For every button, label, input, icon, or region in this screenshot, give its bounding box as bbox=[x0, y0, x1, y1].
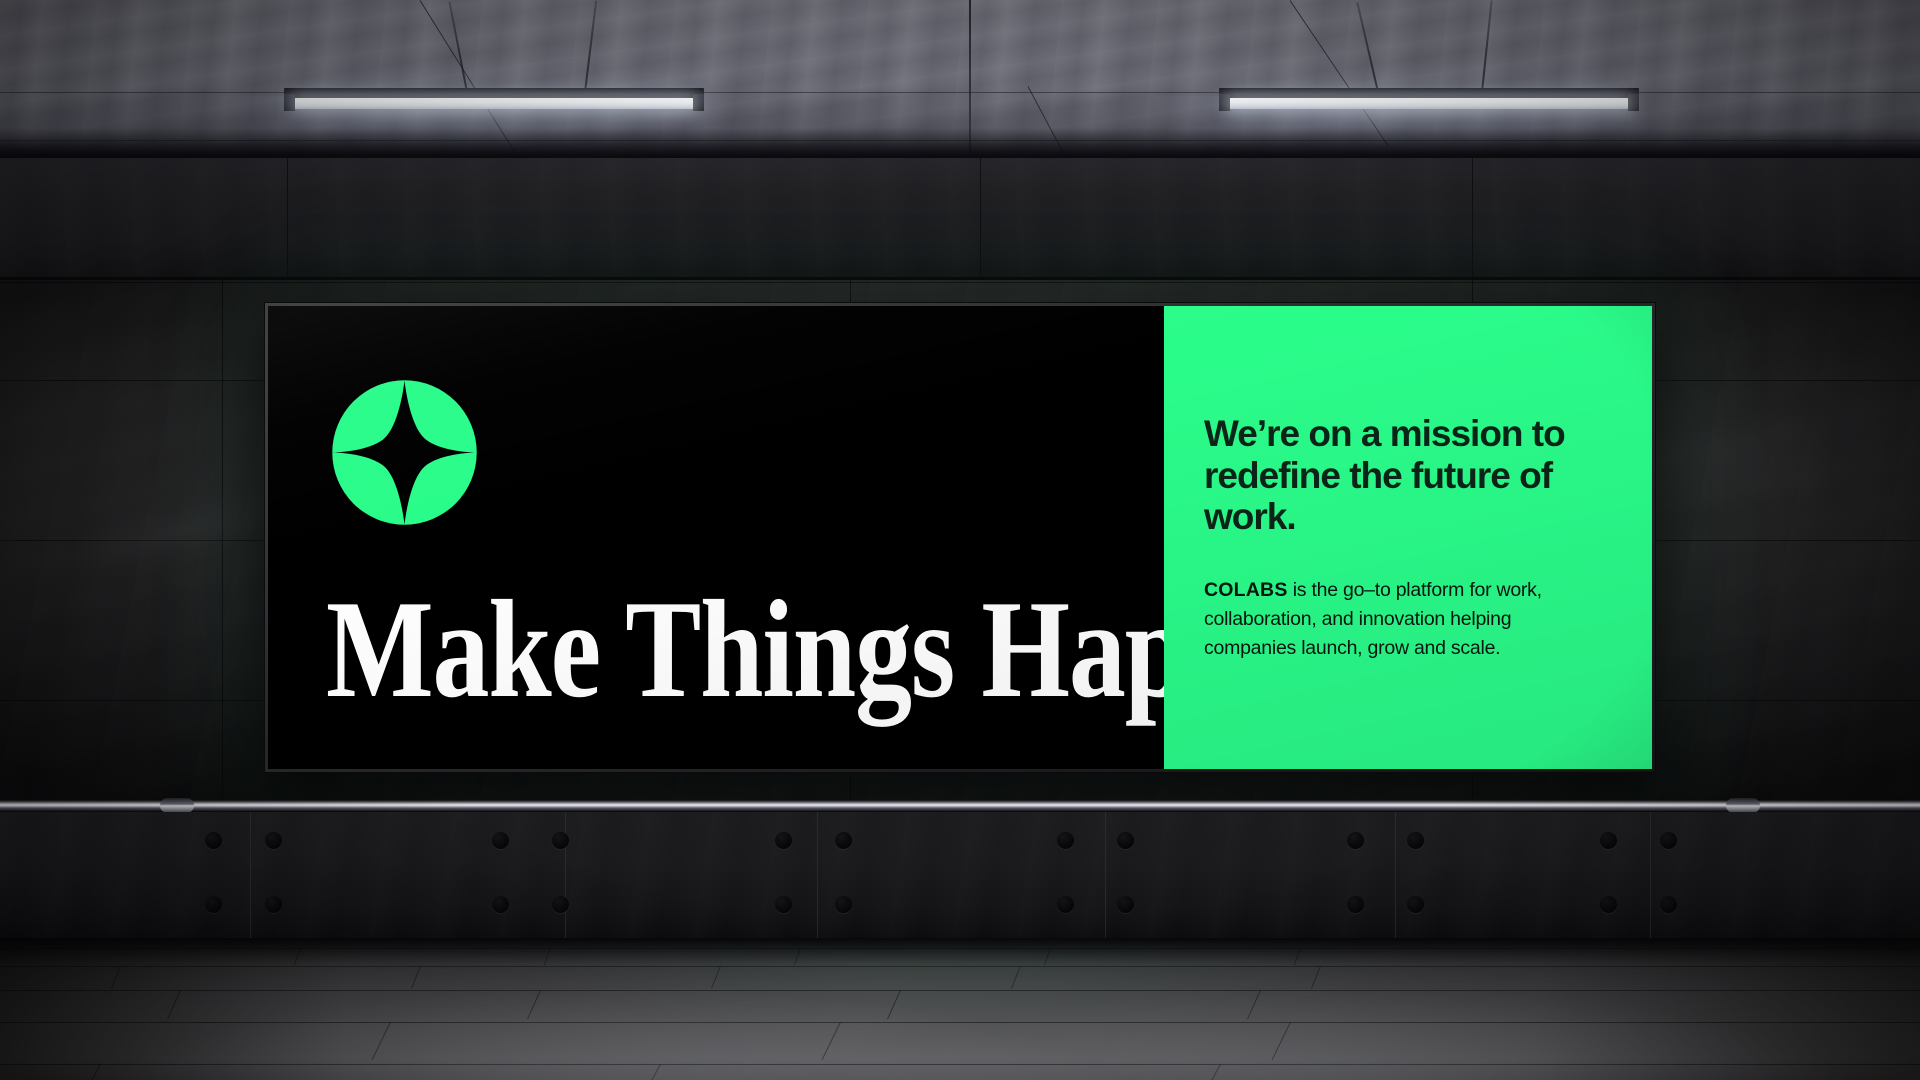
floor-tile-seam bbox=[711, 966, 721, 989]
lower-wall-seam bbox=[565, 812, 566, 940]
rail-cap bbox=[160, 798, 194, 813]
floor-tile-row bbox=[0, 990, 1920, 991]
panel-bolt bbox=[265, 832, 282, 849]
floor-tile-seam bbox=[1011, 966, 1021, 989]
floor-tile-seam bbox=[1294, 948, 1301, 965]
ceiling-light-left bbox=[284, 88, 704, 112]
panel-bolt bbox=[552, 832, 569, 849]
mission-heading: We’re on a mission to redefine the futur… bbox=[1204, 413, 1606, 538]
floor-tile-seam bbox=[91, 1064, 101, 1080]
rail-bar bbox=[0, 800, 1920, 811]
light-endcap bbox=[284, 94, 295, 111]
wall-seam-vertical bbox=[222, 280, 223, 800]
floor-tile-seam bbox=[1272, 1022, 1291, 1060]
tiled-floor bbox=[0, 938, 1920, 1080]
panel-bolt bbox=[492, 832, 509, 849]
floor-tile-seam bbox=[822, 1022, 841, 1060]
wall-seam-horizontal bbox=[0, 282, 1920, 283]
light-endcap bbox=[1628, 94, 1639, 111]
floor-tile-grid bbox=[0, 938, 1920, 1080]
panel-bolt bbox=[1117, 896, 1134, 913]
floor-tile-seam bbox=[1044, 948, 1051, 965]
panel-bolt bbox=[1407, 896, 1424, 913]
floor-tile-seam bbox=[651, 1064, 661, 1080]
lower-wall-seam bbox=[250, 812, 251, 940]
floor-tile-row bbox=[0, 1064, 1920, 1065]
upper-wall-seam bbox=[1472, 158, 1473, 280]
floor-tile-seam bbox=[1311, 966, 1321, 989]
ceiling-light-right bbox=[1219, 88, 1639, 112]
upper-wall-seam bbox=[980, 158, 981, 280]
floor-tile-seam bbox=[411, 966, 421, 989]
panel-bolt bbox=[1407, 832, 1424, 849]
panel-bolt bbox=[775, 896, 792, 913]
floor-tile-seam bbox=[887, 990, 901, 1020]
light-endcap bbox=[1219, 94, 1230, 111]
lower-wall-seam bbox=[1105, 812, 1106, 940]
panel-bolt bbox=[1660, 896, 1677, 913]
brand-name: COLABS bbox=[1204, 579, 1288, 601]
panel-bolt bbox=[1660, 832, 1677, 849]
lower-wall-seam bbox=[1395, 812, 1396, 940]
floor-tile-seam bbox=[527, 990, 541, 1020]
panel-bolt bbox=[1057, 896, 1074, 913]
panel-bolt bbox=[205, 896, 222, 913]
panel-bolt bbox=[1347, 896, 1364, 913]
billboard-headline: Make Things Happen bbox=[326, 583, 1002, 717]
floor-tile-row bbox=[0, 1022, 1920, 1023]
four-point-star-in-circle-icon bbox=[326, 374, 483, 531]
floor-tile-seam bbox=[167, 990, 181, 1020]
panel-bolt bbox=[1600, 832, 1617, 849]
panel-bolt bbox=[835, 832, 852, 849]
billboard-right-panel: We’re on a mission to redefine the futur… bbox=[1164, 306, 1652, 769]
lower-wall-panels bbox=[0, 812, 1920, 940]
panel-bolt bbox=[492, 896, 509, 913]
floor-tile-seam bbox=[372, 1022, 391, 1060]
mission-body: COLABS is the go–to platform for work, c… bbox=[1204, 576, 1574, 662]
panel-bolt bbox=[265, 896, 282, 913]
panel-bolt bbox=[835, 896, 852, 913]
light-endcap bbox=[693, 94, 704, 111]
billboard-left-panel: Make Things Happen bbox=[268, 306, 1164, 769]
light-tube bbox=[1230, 98, 1628, 109]
floor-tile-seam bbox=[1211, 1064, 1221, 1080]
floor-tile-seam bbox=[294, 948, 301, 965]
billboard-scene: Make Things Happen We’re on a mission to… bbox=[0, 0, 1920, 1080]
panel-bolt bbox=[552, 896, 569, 913]
rail-cap bbox=[1726, 798, 1760, 813]
lower-wall-seam bbox=[1650, 812, 1651, 940]
panel-bolt bbox=[1057, 832, 1074, 849]
lower-wall-seam bbox=[817, 812, 818, 940]
panel-bolt bbox=[1117, 832, 1134, 849]
floor-tile-seam bbox=[1247, 990, 1261, 1020]
upper-wall-seam bbox=[287, 158, 288, 280]
floor-tile-row bbox=[0, 966, 1920, 967]
billboard-display[interactable]: Make Things Happen We’re on a mission to… bbox=[265, 303, 1655, 772]
panel-bolt bbox=[1347, 832, 1364, 849]
floor-tile-seam bbox=[544, 948, 551, 965]
panel-bolt bbox=[205, 832, 222, 849]
panel-bolt bbox=[775, 832, 792, 849]
floor-tile-row bbox=[0, 948, 1920, 949]
floor-tile-seam bbox=[111, 966, 121, 989]
upper-wall-band bbox=[0, 158, 1920, 280]
panel-bolt bbox=[1600, 896, 1617, 913]
billboard-screen: Make Things Happen We’re on a mission to… bbox=[268, 306, 1652, 769]
floor-tile-seam bbox=[794, 948, 801, 965]
light-tube bbox=[295, 98, 693, 109]
